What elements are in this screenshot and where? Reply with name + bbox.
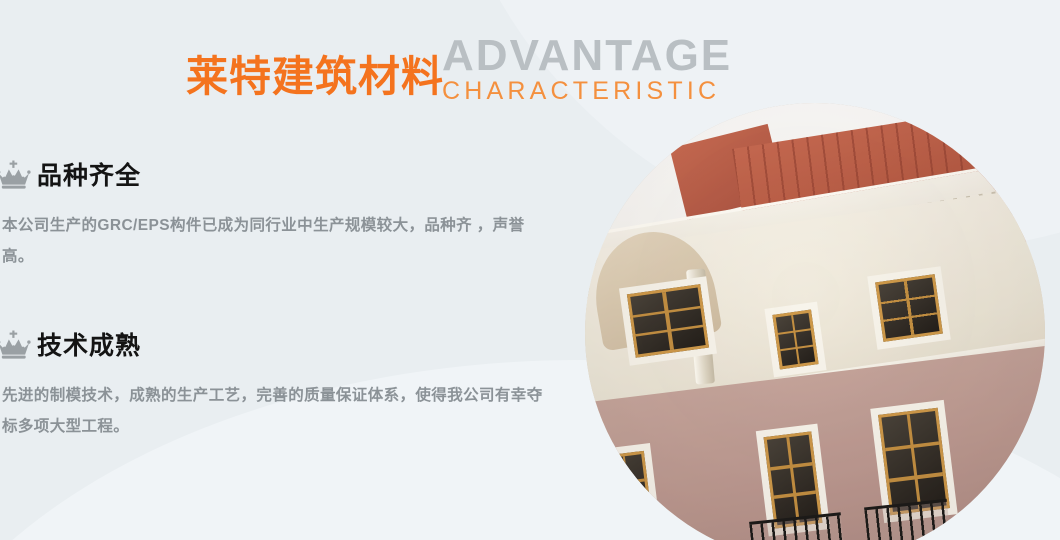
- feature-body-2: 先进的制模技术，成熟的生产工艺，完善的质量保证体系，使得我公司有幸夺标多项大型工…: [0, 380, 556, 442]
- title-english-group: ADVANTAGE CHARACTERISTIC: [442, 36, 732, 106]
- feature-title-1: 品种齐全: [37, 164, 141, 189]
- feature-body-1: 本公司生产的GRC/EPS构件已成为同行业中生产规模较大，品种齐 ，声誉高。: [0, 210, 556, 272]
- feature-heading-1: 品种齐全: [0, 160, 562, 192]
- page-title: 莱特建筑材料 ADVANTAGE CHARACTERISTIC: [186, 32, 732, 102]
- feature-heading-2: 技术成熟: [0, 330, 562, 362]
- photo-tint-overlay: [585, 103, 1045, 540]
- crown-icon: [0, 160, 31, 192]
- title-chinese: 莱特建筑材料: [186, 56, 444, 98]
- advantage-banner: 莱特建筑材料 ADVANTAGE CHARACTERISTIC: [0, 0, 1060, 540]
- feature-block-2: 技术成熟 先进的制模技术，成熟的生产工艺，完善的质量保证体系，使得我公司有幸夺标…: [0, 330, 562, 442]
- title-english-main: ADVANTAGE: [442, 36, 732, 76]
- crown-icon: [0, 330, 31, 362]
- photo-content: [585, 103, 1045, 540]
- title-english-sub: CHARACTERISTIC: [442, 78, 732, 106]
- european-villa-facade-photo: [585, 103, 1045, 540]
- feature-title-2: 技术成熟: [37, 334, 141, 359]
- feature-block-1: 品种齐全 本公司生产的GRC/EPS构件已成为同行业中生产规模较大，品种齐 ，声…: [0, 160, 562, 272]
